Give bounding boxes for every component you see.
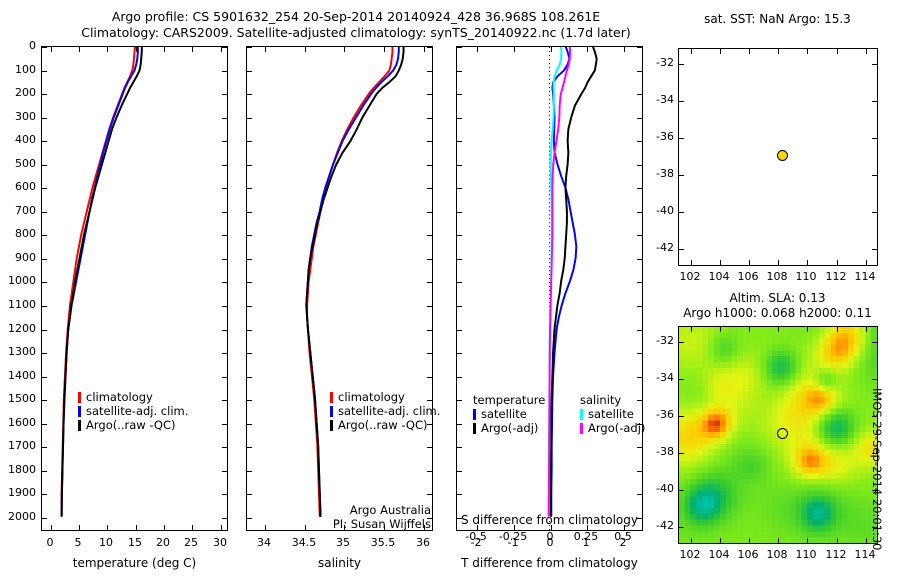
- imos-timestamp: IMOS 29-Sep-2014 20:01:30: [870, 388, 884, 551]
- legend-label: climatology: [338, 390, 405, 404]
- sla-lon-label: 114: [845, 548, 885, 561]
- sst-map-area: [679, 49, 877, 265]
- legend-label: Argo(..raw -QC): [86, 418, 176, 432]
- difference-depth-tick-right: [637, 494, 642, 495]
- legend-label: satellite-adj. clim.: [86, 404, 188, 418]
- depth-tick-label: 300: [0, 110, 36, 123]
- difference-depth-tick: [457, 94, 462, 95]
- curve-climatology: [62, 47, 135, 516]
- salinity-x-tick-top: [305, 47, 306, 52]
- depth-tick-label: 800: [0, 227, 36, 240]
- difference-depth-tick: [457, 306, 462, 307]
- curve-argo-raw-qc-: [306, 47, 403, 516]
- sst-lat-tick: [679, 175, 684, 176]
- difference-depth-tick: [457, 424, 462, 425]
- sla-lon-tick-top: [691, 327, 692, 332]
- temperature-depth-tick: [42, 212, 47, 213]
- salinity-depth-tick: [247, 141, 252, 142]
- temperature-depth-tick-right: [222, 518, 227, 519]
- sst-lat-tick-right: [872, 64, 877, 65]
- salinity-depth-tick: [247, 94, 252, 95]
- sst-lon-tick-top: [807, 49, 808, 54]
- depth-tick-label: 2000: [0, 510, 36, 523]
- salinity-depth-tick-right: [427, 165, 432, 166]
- difference-t-x-tick-top: [624, 47, 625, 52]
- temperature-x-tick-top: [51, 47, 52, 52]
- salinity-depth-tick: [247, 71, 252, 72]
- temperature-x-tick-top: [164, 47, 165, 52]
- salinity-x-tick-top: [424, 47, 425, 52]
- sst-lon-tick-top: [837, 49, 838, 54]
- salinity-depth-tick-right: [427, 353, 432, 354]
- salinity-x-tick-label: 36: [398, 536, 448, 549]
- depth-tick-label: 400: [0, 133, 36, 146]
- temperature-depth-tick: [42, 282, 47, 283]
- depth-tick-label: 1800: [0, 463, 36, 476]
- difference-depth-tick-right: [637, 259, 642, 260]
- salinity-depth-tick: [247, 377, 252, 378]
- sst-lat-tick-right: [872, 175, 877, 176]
- difference-depth-tick: [457, 212, 462, 213]
- salinity-depth-tick: [247, 235, 252, 236]
- difference-depth-tick-right: [637, 471, 642, 472]
- temperature-x-tick-top: [107, 47, 108, 52]
- temperature-depth-tick: [42, 447, 47, 448]
- temperature-x-tick-top: [192, 47, 193, 52]
- sla-lon-tick: [837, 538, 838, 543]
- salinity-plot-area: [247, 47, 432, 530]
- difference-s-tick-label: 0.5: [598, 530, 648, 543]
- salinity-x-tick: [265, 525, 266, 530]
- sla-lon-tick-top: [720, 327, 721, 332]
- temperature-depth-tick: [42, 235, 47, 236]
- difference-t-x-tick-top: [514, 47, 515, 52]
- credit-line-2: PI: Susan Wijffels: [273, 517, 431, 531]
- sst-lon-tick: [778, 260, 779, 265]
- temperature-depth-tick-right: [222, 188, 227, 189]
- salinity-depth-tick: [247, 282, 252, 283]
- temperature-curves: [42, 47, 227, 530]
- sst-lon-tick-top: [778, 49, 779, 54]
- salinity-depth-tick-right: [427, 471, 432, 472]
- temperature-depth-tick-right: [222, 330, 227, 331]
- legend-row: climatology: [330, 390, 440, 404]
- panel-salinity: [246, 46, 433, 531]
- sla-lon-tick: [807, 538, 808, 543]
- difference-depth-tick-right: [637, 306, 642, 307]
- curve-temperature-argo-adj-: [551, 47, 597, 516]
- difference-depth-tick-right: [637, 353, 642, 354]
- salinity-depth-tick: [247, 424, 252, 425]
- salinity-x-tick-top: [384, 47, 385, 52]
- legend-row: satellite-adj. clim.: [78, 404, 188, 418]
- legend-row: Argo(..raw -QC): [330, 418, 440, 432]
- legend-label: Argo(-adj): [588, 421, 645, 435]
- legend-label: satellite: [588, 407, 634, 421]
- sst-lat-tick: [679, 249, 684, 250]
- salinity-depth-tick: [247, 306, 252, 307]
- legend-label: satellite: [481, 407, 527, 421]
- sst-lon-tick-top: [749, 49, 750, 54]
- temperature-depth-tick: [42, 353, 47, 354]
- map-sla: [678, 326, 878, 544]
- salinity-depth-tick-right: [427, 71, 432, 72]
- sla-map-area: [679, 327, 877, 543]
- sst-lat-tick-right: [872, 249, 877, 250]
- temperature-depth-tick-right: [222, 447, 227, 448]
- sla-lat-tick-right: [872, 379, 877, 380]
- temperature-depth-tick-right: [222, 400, 227, 401]
- temperature-depth-tick-right: [222, 282, 227, 283]
- salinity-depth-tick: [247, 212, 252, 213]
- legend-color-swatch: [473, 423, 476, 434]
- temperature-x-tick-top: [136, 47, 137, 52]
- salinity-x-tick-top: [344, 47, 345, 52]
- temperature-depth-tick: [42, 118, 47, 119]
- sla-lon-tick: [720, 538, 721, 543]
- temperature-depth-tick: [42, 141, 47, 142]
- salinity-depth-tick: [247, 118, 252, 119]
- sla-lon-tick-top: [866, 327, 867, 332]
- temperature-depth-tick: [42, 94, 47, 95]
- temperature-depth-tick-right: [222, 471, 227, 472]
- legend-color-swatch: [330, 392, 333, 403]
- sst-lat-label: -32: [652, 56, 674, 69]
- salinity-depth-tick-right: [427, 447, 432, 448]
- depth-tick-label: 1000: [0, 274, 36, 287]
- difference-legend-salinity-header: salinity: [580, 393, 645, 407]
- sst-lon-tick: [749, 260, 750, 265]
- legend-color-swatch: [78, 406, 81, 417]
- legend-row: Argo(..raw -QC): [78, 418, 188, 432]
- difference-depth-tick: [457, 353, 462, 354]
- salinity-depth-tick: [247, 353, 252, 354]
- temperature-depth-tick-right: [222, 94, 227, 95]
- legend-label: Argo(-adj): [481, 421, 538, 435]
- salinity-credit: Argo Australia PI: Susan Wijffels: [273, 503, 431, 531]
- sla-lon-tick: [866, 538, 867, 543]
- sst-lat-label: -36: [652, 130, 674, 143]
- salinity-depth-tick: [247, 259, 252, 260]
- difference-depth-tick: [457, 377, 462, 378]
- salinity-depth-tick-right: [427, 94, 432, 95]
- map-sst: [678, 48, 878, 266]
- depth-tick-label: 1600: [0, 416, 36, 429]
- depth-tick-label: 500: [0, 157, 36, 170]
- temperature-depth-tick-right: [222, 306, 227, 307]
- salinity-curves: [247, 47, 432, 530]
- difference-depth-tick-right: [637, 141, 642, 142]
- sst-lon-tick-top: [691, 49, 692, 54]
- temperature-x-tick-top: [221, 47, 222, 52]
- depth-tick-label: 200: [0, 86, 36, 99]
- depth-tick-label: 1400: [0, 369, 36, 382]
- temperature-depth-tick: [42, 165, 47, 166]
- salinity-depth-tick: [247, 518, 252, 519]
- depth-tick-label: 100: [0, 63, 36, 76]
- difference-depth-tick: [457, 235, 462, 236]
- salinity-depth-tick: [247, 165, 252, 166]
- sst-lat-tick-right: [872, 138, 877, 139]
- sla-lat-label: -38: [652, 445, 674, 458]
- argo-position-marker-sla[interactable]: [777, 428, 788, 439]
- legend-label: climatology: [86, 390, 153, 404]
- salinity-depth-tick-right: [427, 141, 432, 142]
- sst-lon-tick-top: [866, 49, 867, 54]
- temperature-depth-tick: [42, 377, 47, 378]
- difference-depth-tick-right: [637, 118, 642, 119]
- legend-row: satellite: [580, 407, 645, 421]
- difference-depth-tick-right: [637, 71, 642, 72]
- curve-temperature-satellite: [551, 47, 576, 516]
- panel-difference: [456, 46, 643, 531]
- salinity-axis-label: salinity: [246, 556, 433, 570]
- sst-lat-label: -40: [652, 204, 674, 217]
- difference-depth-tick-right: [637, 212, 642, 213]
- difference-s-axis-label: S difference from climatology: [456, 513, 643, 527]
- salinity-legend: climatologysatellite-adj. clim.Argo(..ra…: [330, 390, 440, 432]
- difference-depth-tick-right: [637, 282, 642, 283]
- difference-legend-temperature-header: temperature: [473, 393, 545, 407]
- sst-lon-tick: [720, 260, 721, 265]
- depth-tick-label: 1200: [0, 322, 36, 335]
- difference-depth-tick: [457, 47, 462, 48]
- temperature-depth-tick: [42, 400, 47, 401]
- curve-satellite-adj-clim-: [306, 47, 399, 516]
- sst-lat-label: -34: [652, 93, 674, 106]
- legend-color-swatch: [330, 406, 333, 417]
- temperature-depth-tick: [42, 471, 47, 472]
- temperature-depth-tick-right: [222, 494, 227, 495]
- temperature-depth-tick-right: [222, 377, 227, 378]
- depth-tick-label: 1100: [0, 298, 36, 311]
- sst-lat-tick: [679, 64, 684, 65]
- difference-t-axis-label: T difference from climatology: [456, 556, 643, 570]
- salinity-depth-tick: [247, 471, 252, 472]
- sst-lon-tick-top: [720, 49, 721, 54]
- difference-t-x-tick-top: [587, 47, 588, 52]
- sst-lat-tick-right: [872, 101, 877, 102]
- salinity-depth-tick-right: [427, 235, 432, 236]
- salinity-depth-tick-right: [427, 47, 432, 48]
- difference-curves: [457, 47, 642, 530]
- legend-color-swatch: [78, 420, 81, 431]
- depth-tick-label: 1300: [0, 345, 36, 358]
- legend-row: climatology: [78, 390, 188, 404]
- sla-lat-label: -42: [652, 519, 674, 532]
- legend-row: satellite-adj. clim.: [330, 404, 440, 418]
- difference-depth-tick-right: [637, 165, 642, 166]
- sla-lat-tick: [679, 416, 684, 417]
- sla-map-title-line-1: Altim. SLA: 0.13: [670, 291, 885, 305]
- temperature-depth-tick: [42, 306, 47, 307]
- temperature-depth-tick-right: [222, 141, 227, 142]
- legend-color-swatch: [580, 409, 583, 420]
- difference-depth-tick: [457, 118, 462, 119]
- legend-color-swatch: [78, 392, 81, 403]
- legend-label: satellite-adj. clim.: [338, 404, 440, 418]
- sst-lat-tick-right: [872, 212, 877, 213]
- sst-lon-label: 114: [845, 270, 885, 283]
- difference-depth-tick: [457, 471, 462, 472]
- argo-position-marker[interactable]: [777, 150, 788, 161]
- difference-depth-tick: [457, 71, 462, 72]
- difference-depth-tick: [457, 259, 462, 260]
- sst-lon-tick: [837, 260, 838, 265]
- sla-map-title-line-2: Argo h1000: 0.068 h2000: 0.11: [660, 306, 895, 320]
- temperature-x-tick-top: [79, 47, 80, 52]
- depth-tick-label: 900: [0, 251, 36, 264]
- difference-t-x-tick-top: [477, 47, 478, 52]
- temperature-depth-tick-right: [222, 165, 227, 166]
- depth-tick-label: 700: [0, 204, 36, 217]
- temperature-depth-tick: [42, 494, 47, 495]
- temperature-x-tick: [136, 525, 137, 530]
- difference-depth-tick-right: [637, 377, 642, 378]
- temperature-x-tick: [107, 525, 108, 530]
- difference-depth-tick: [457, 447, 462, 448]
- difference-depth-tick: [457, 141, 462, 142]
- sst-lat-label: -38: [652, 167, 674, 180]
- temperature-depth-tick: [42, 47, 47, 48]
- temperature-depth-tick: [42, 330, 47, 331]
- legend-color-swatch: [580, 423, 583, 434]
- difference-plot-area: [457, 47, 642, 530]
- depth-tick-label: 1700: [0, 439, 36, 452]
- salinity-depth-tick: [247, 330, 252, 331]
- salinity-depth-tick-right: [427, 377, 432, 378]
- sst-lon-tick: [807, 260, 808, 265]
- temperature-depth-tick-right: [222, 424, 227, 425]
- salinity-depth-tick-right: [427, 494, 432, 495]
- depth-tick-label: 600: [0, 180, 36, 193]
- temperature-depth-tick-right: [222, 235, 227, 236]
- temperature-depth-tick-right: [222, 47, 227, 48]
- sla-lon-tick-top: [778, 327, 779, 332]
- temperature-legend: climatologysatellite-adj. clim.Argo(..ra…: [78, 390, 188, 432]
- sla-lon-tick-top: [807, 327, 808, 332]
- legend-row: Argo(-adj): [580, 421, 645, 435]
- sst-lat-tick: [679, 138, 684, 139]
- difference-legend-salinity: salinity satelliteArgo(-adj): [580, 393, 645, 435]
- sla-lat-label: -36: [652, 408, 674, 421]
- salinity-depth-tick-right: [427, 330, 432, 331]
- temperature-x-tick-label: 30: [195, 536, 245, 549]
- credit-line-1: Argo Australia: [273, 503, 431, 517]
- temperature-depth-tick: [42, 518, 47, 519]
- difference-depth-tick: [457, 330, 462, 331]
- sla-lat-tick: [679, 379, 684, 380]
- difference-depth-tick: [457, 165, 462, 166]
- salinity-depth-tick: [247, 188, 252, 189]
- sst-lon-tick: [691, 260, 692, 265]
- temperature-x-tick: [192, 525, 193, 530]
- temperature-depth-tick-right: [222, 118, 227, 119]
- sla-lat-label: -40: [652, 482, 674, 495]
- sla-lon-tick-top: [837, 327, 838, 332]
- curve-climatology: [307, 47, 392, 516]
- title-line-1: Argo profile: CS 5901632_254 20-Sep-2014…: [36, 9, 676, 25]
- temperature-depth-tick-right: [222, 259, 227, 260]
- legend-row: Argo(-adj): [473, 421, 545, 435]
- difference-depth-tick-right: [637, 235, 642, 236]
- sla-lon-tick-top: [749, 327, 750, 332]
- sst-lat-tick: [679, 212, 684, 213]
- temperature-axis-label: temperature (deg C): [41, 556, 228, 570]
- sst-lon-tick: [866, 260, 867, 265]
- legend-color-swatch: [473, 409, 476, 420]
- salinity-depth-tick-right: [427, 259, 432, 260]
- title-line-2: Climatology: CARS2009. Satellite-adjuste…: [36, 25, 676, 41]
- legend-label: Argo(..raw -QC): [338, 418, 428, 432]
- sla-lat-tick: [679, 527, 684, 528]
- sla-lon-tick: [691, 538, 692, 543]
- difference-depth-tick: [457, 494, 462, 495]
- depth-tick-label: 0: [0, 39, 36, 52]
- difference-t-x-tick-top: [551, 47, 552, 52]
- depth-tick-label: 1900: [0, 486, 36, 499]
- salinity-depth-tick: [247, 494, 252, 495]
- difference-legend-temperature: temperature satelliteArgo(-adj): [473, 393, 545, 435]
- temperature-x-tick: [79, 525, 80, 530]
- sla-lon-tick: [778, 538, 779, 543]
- difference-depth-tick-right: [637, 47, 642, 48]
- salinity-depth-tick-right: [427, 282, 432, 283]
- salinity-depth-tick-right: [427, 212, 432, 213]
- sla-lat-tick: [679, 342, 684, 343]
- temperature-x-tick: [51, 525, 52, 530]
- page-title: Argo profile: CS 5901632_254 20-Sep-2014…: [36, 9, 676, 41]
- sla-lat-label: -32: [652, 334, 674, 347]
- difference-depth-tick: [457, 400, 462, 401]
- sst-lat-tick: [679, 101, 684, 102]
- difference-depth-tick-right: [637, 188, 642, 189]
- difference-depth-tick-right: [637, 94, 642, 95]
- temperature-x-tick: [221, 525, 222, 530]
- temperature-depth-tick: [42, 259, 47, 260]
- sst-lat-label: -42: [652, 241, 674, 254]
- depth-tick-label: 1500: [0, 392, 36, 405]
- sla-lat-tick-right: [872, 342, 877, 343]
- legend-color-swatch: [330, 420, 333, 431]
- sla-lat-tick: [679, 453, 684, 454]
- temperature-x-tick: [164, 525, 165, 530]
- salinity-depth-tick-right: [427, 306, 432, 307]
- temperature-plot-area: [42, 47, 227, 530]
- difference-depth-tick-right: [637, 330, 642, 331]
- temperature-depth-tick-right: [222, 353, 227, 354]
- difference-depth-tick: [457, 282, 462, 283]
- salinity-depth-tick: [247, 400, 252, 401]
- sla-lat-label: -34: [652, 371, 674, 384]
- temperature-depth-tick-right: [222, 212, 227, 213]
- salinity-depth-tick: [247, 447, 252, 448]
- salinity-x-tick-top: [265, 47, 266, 52]
- difference-depth-tick-right: [637, 447, 642, 448]
- salinity-depth-tick: [247, 47, 252, 48]
- difference-depth-tick: [457, 188, 462, 189]
- salinity-depth-tick-right: [427, 118, 432, 119]
- temperature-depth-tick: [42, 71, 47, 72]
- sst-map-title: sat. SST: NaN Argo: 15.3: [670, 12, 885, 26]
- panel-temperature: [41, 46, 228, 531]
- salinity-depth-tick-right: [427, 188, 432, 189]
- sla-lat-tick: [679, 490, 684, 491]
- sla-lon-tick: [749, 538, 750, 543]
- legend-row: satellite: [473, 407, 545, 421]
- temperature-depth-tick-right: [222, 71, 227, 72]
- temperature-depth-tick: [42, 188, 47, 189]
